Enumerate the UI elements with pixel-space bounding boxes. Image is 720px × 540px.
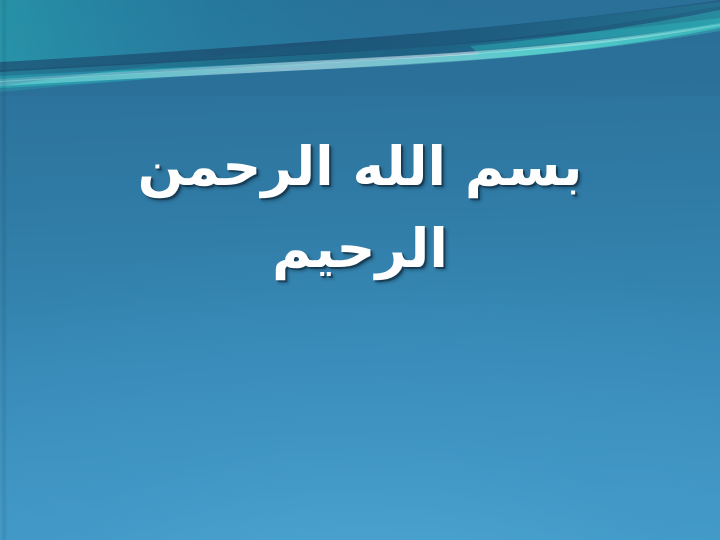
wave-highlight-cyan [0,24,720,86]
wave-glow-right [470,10,720,55]
wave-highlight-pale [0,23,720,82]
title-line-2: الرحیم [0,208,720,290]
title-line-1: بسم الله الرحمن [0,126,720,208]
wave-ribbon-teal [0,2,720,92]
wave-teal-wash [0,0,720,82]
top-wave-decoration [0,0,720,96]
wave-ribbon-navy-upper [0,0,720,72]
slide-title: بسم الله الرحمن الرحیم [0,126,720,290]
title-slide: بسم الله الرحمن الرحیم [0,0,720,540]
wave-base-shelf [0,28,720,96]
wave-ribbons-svg [0,0,720,96]
wave-ribbon-navy-lower [0,6,720,76]
